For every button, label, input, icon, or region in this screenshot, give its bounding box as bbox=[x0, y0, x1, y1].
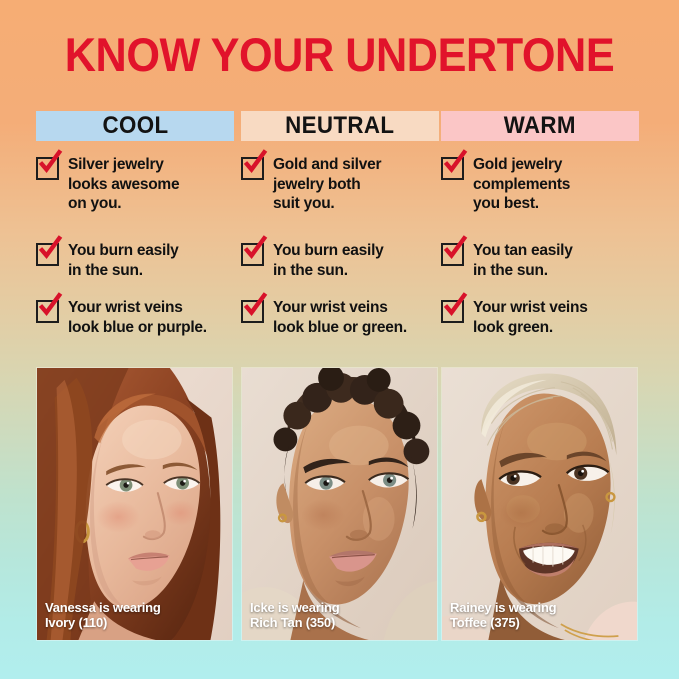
column-header-neutral: NEUTRAL bbox=[241, 111, 439, 141]
checklist-item-label: Gold and silver jewelry both suit you. bbox=[273, 155, 381, 214]
page-title: KNOW YOUR UNDERTONE bbox=[27, 28, 652, 82]
checklist-item-label: Silver jewelry looks awesome on you. bbox=[68, 155, 179, 214]
checklist-item: Your wrist veins look blue or purple. bbox=[36, 298, 207, 337]
checkbox-checked-icon bbox=[441, 243, 464, 266]
checkbox-checked-icon bbox=[241, 243, 264, 266]
column-header-cool: COOL bbox=[36, 111, 234, 141]
model-photo-cool: Vanessa is wearing Ivory (110) bbox=[36, 367, 233, 641]
checkbox-checked-icon bbox=[241, 300, 264, 323]
checkbox-checked-icon bbox=[36, 243, 59, 266]
checklist-item-label: You burn easily in the sun. bbox=[68, 241, 179, 280]
model-photo-neutral: Icke is wearing Rich Tan (350) bbox=[241, 367, 438, 641]
column-header-warm-label: WARM bbox=[504, 112, 576, 140]
checklist-item-label: You burn easily in the sun. bbox=[273, 241, 384, 280]
checklist-item: You tan easily in the sun. bbox=[441, 241, 573, 280]
checklist-item: Your wrist veins look blue or green. bbox=[241, 298, 407, 337]
column-header-cool-label: COOL bbox=[102, 112, 168, 140]
undertone-poster: KNOW YOUR UNDERTONE COOL NEUTRAL WARM Si… bbox=[0, 0, 679, 679]
checklist-item-label: Your wrist veins look blue or purple. bbox=[68, 298, 207, 337]
checkbox-checked-icon bbox=[441, 300, 464, 323]
checklist-item: Silver jewelry looks awesome on you. bbox=[36, 155, 179, 214]
photo-caption-neutral: Icke is wearing Rich Tan (350) bbox=[250, 601, 340, 630]
checklist-item-label: You tan easily in the sun. bbox=[473, 241, 573, 280]
checklist-item-label: Gold jewelry complements you best. bbox=[473, 155, 570, 214]
checklist-item: Gold and silver jewelry both suit you. bbox=[241, 155, 381, 214]
column-headers: COOL NEUTRAL WARM bbox=[36, 111, 643, 141]
checklist-item: You burn easily in the sun. bbox=[241, 241, 384, 280]
column-header-neutral-label: NEUTRAL bbox=[285, 112, 394, 140]
checkbox-checked-icon bbox=[36, 300, 59, 323]
photo-caption-cool: Vanessa is wearing Ivory (110) bbox=[45, 601, 161, 630]
checkbox-checked-icon bbox=[441, 157, 464, 180]
checklist-item: You burn easily in the sun. bbox=[36, 241, 179, 280]
checklist-item: Your wrist veins look green. bbox=[441, 298, 588, 337]
photo-caption-warm: Rainey is wearing Toffee (375) bbox=[450, 601, 556, 630]
checklist-item: Gold jewelry complements you best. bbox=[441, 155, 570, 214]
column-header-warm: WARM bbox=[441, 111, 639, 141]
model-photo-warm: Rainey is wearing Toffee (375) bbox=[441, 367, 638, 641]
checkbox-checked-icon bbox=[241, 157, 264, 180]
checklist-item-label: Your wrist veins look blue or green. bbox=[273, 298, 407, 337]
checkbox-checked-icon bbox=[36, 157, 59, 180]
checklist-item-label: Your wrist veins look green. bbox=[473, 298, 588, 337]
